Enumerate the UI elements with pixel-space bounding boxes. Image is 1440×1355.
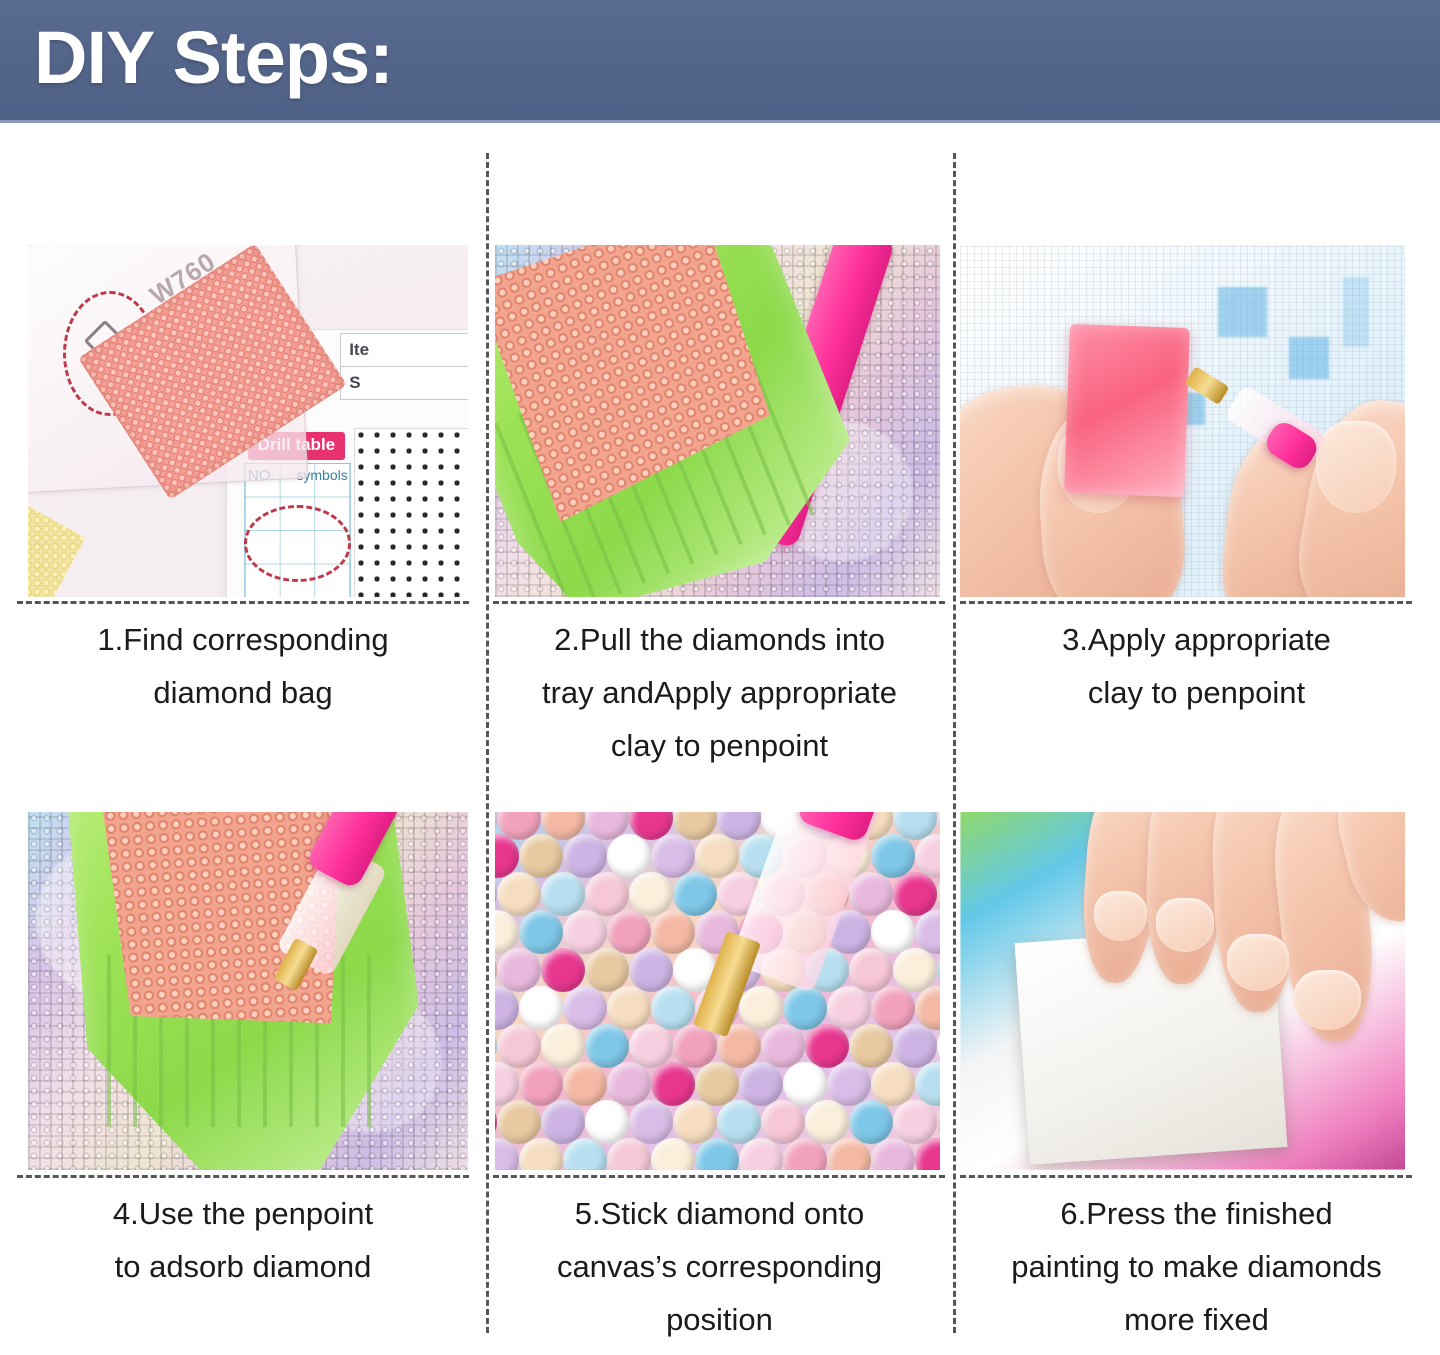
diamond-bag-photo: Ite S Drill table NO. symbols W760 xyxy=(28,245,468,597)
caption-line: clay to penpoint xyxy=(953,666,1440,719)
step-caption-4: 4.Use the penpoint to adsorb diamond xyxy=(10,1187,476,1293)
step-cell-4: 4.Use the penpoint to adsorb diamond xyxy=(0,739,486,1355)
caption-line: tray andApply appropriate xyxy=(486,666,953,719)
press-painting-photo xyxy=(960,812,1405,1170)
caption-line: 6.Press the finished xyxy=(953,1187,1440,1240)
horizontal-divider-5 xyxy=(493,1175,945,1178)
horizontal-divider-2 xyxy=(493,601,945,604)
clay-to-pen-photo xyxy=(960,245,1405,597)
step-cell-2: 2.Pull the diamonds into tray andApply a… xyxy=(486,123,953,739)
steps-grid: Ite S Drill table NO. symbols W760 1.Fin… xyxy=(0,123,1440,1355)
step-caption-5: 5.Stick diamond onto canvas’s correspond… xyxy=(486,1187,953,1346)
horizontal-divider-1 xyxy=(17,601,469,604)
step-cell-5: 5.Stick diamond onto canvas’s correspond… xyxy=(486,739,953,1355)
item-label-text: Ite xyxy=(349,340,369,360)
step-caption-3: 3.Apply appropriate clay to penpoint xyxy=(953,613,1440,719)
step-caption-1: 1.Find corresponding diamond bag xyxy=(10,613,476,719)
step-cell-1: Ite S Drill table NO. symbols W760 1.Fin… xyxy=(0,123,486,739)
step-cell-3: 3.Apply appropriate clay to penpoint xyxy=(953,123,1440,739)
horizontal-divider-3 xyxy=(960,601,1412,604)
caption-line: painting to make diamonds xyxy=(953,1240,1440,1293)
size-label-text: S xyxy=(349,373,360,393)
caption-line: to adsorb diamond xyxy=(10,1240,476,1293)
caption-line: 5.Stick diamond onto xyxy=(486,1187,953,1240)
caption-line: 1.Find corresponding xyxy=(10,613,476,666)
green-tray-photo xyxy=(495,245,940,597)
caption-line: 3.Apply appropriate xyxy=(953,613,1440,666)
horizontal-divider-6 xyxy=(960,1175,1412,1178)
caption-line: 4.Use the penpoint xyxy=(10,1187,476,1240)
page-header: DIY Steps: xyxy=(0,0,1440,123)
caption-line: diamond bag xyxy=(10,666,476,719)
step-caption-6: 6.Press the finished painting to make di… xyxy=(953,1187,1440,1346)
stick-diamond-photo xyxy=(495,812,940,1170)
page-title: DIY Steps: xyxy=(34,16,393,100)
caption-line: position xyxy=(486,1293,953,1346)
caption-line: canvas’s corresponding xyxy=(486,1240,953,1293)
caption-line: 2.Pull the diamonds into xyxy=(486,613,953,666)
adsorb-diamond-photo xyxy=(28,812,468,1170)
caption-line: more fixed xyxy=(953,1293,1440,1346)
step-cell-6: 6.Press the finished painting to make di… xyxy=(953,739,1440,1355)
horizontal-divider-4 xyxy=(17,1175,469,1178)
